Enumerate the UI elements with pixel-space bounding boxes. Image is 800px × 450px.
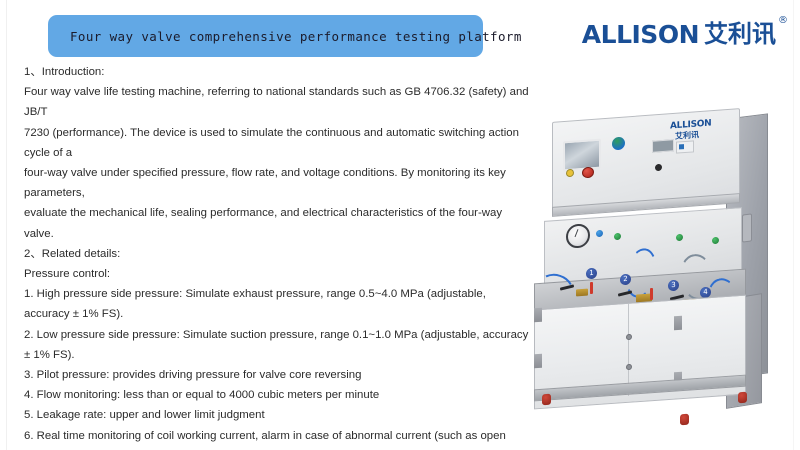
page-border-left [6,0,7,450]
valve-handle-red [590,282,593,294]
title-banner: Four way valve comprehensive performance… [48,15,483,57]
specification-text: 1、Introduction: Four way valve life test… [24,62,532,450]
digital-readout-display [652,139,674,153]
page-title: Four way valve comprehensive performance… [48,29,522,44]
caster-wheel [542,394,551,406]
caster-wheel [738,392,747,404]
spec-line: 3. Pilot pressure: provides driving pres… [24,365,532,385]
valve-handle-red [650,288,653,300]
machine-side-handle [742,213,752,242]
spec-line: Pressure control: [24,264,532,284]
brand-name-cjk: 艾利讯 [704,22,776,46]
brand-logo: ALLISON 艾利讯 ® [582,22,788,56]
spec-line: 4. Flow monitoring: less than or equal t… [24,385,532,405]
spec-line: 5. Leakage rate: upper and lower limit j… [24,405,532,425]
brass-valve-fitting [576,289,588,297]
spec-line: 7230 (performance). The device is used t… [24,123,532,163]
frame-bracket [534,354,542,369]
spec-line: Four way valve life testing machine, ref… [24,82,532,122]
registered-trademark-icon: ® [778,16,788,26]
brand-name-latin: ALLISON [582,22,699,47]
spec-line: 6. Real time monitoring of coil working … [24,426,532,450]
spec-line: evaluate the mechanical life, sealing pe… [24,203,532,243]
caster-wheel [680,414,689,426]
product-spec-page: Four way valve comprehensive performance… [0,0,800,450]
frame-bracket [674,316,682,331]
hmi-touchscreen [563,139,601,172]
spec-line: 2、Related details: [24,244,532,264]
spec-line: 1. High pressure side pressure: Simulate… [24,284,532,324]
frame-bracket [534,308,542,323]
spec-line: four-way valve under specified pressure,… [24,163,532,203]
spec-line: 2. Low pressure side pressure: Simulate … [24,325,532,365]
panel-certification-label [676,140,694,153]
spec-line: 1、Introduction: [24,62,532,82]
machine-photo: ALLISON 艾利讯 1 2 3 4 [530,96,798,436]
